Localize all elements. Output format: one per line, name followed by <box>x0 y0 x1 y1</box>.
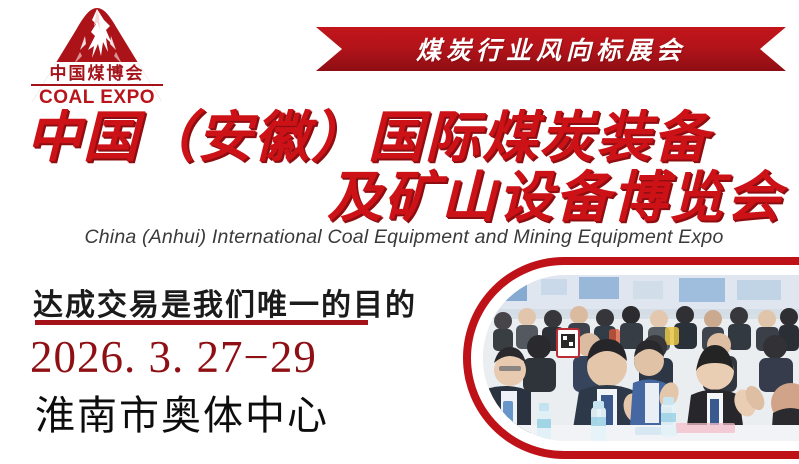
event-venue: 淮南市奥体中心 <box>35 383 329 441</box>
event-date: 2026. 3. 27−29 <box>30 331 317 383</box>
conference-audience-photo <box>483 275 799 441</box>
english-subtitle: China (Anhui) International Coal Equipme… <box>28 226 780 249</box>
page-title-line-2: 及矿山设备博览会 <box>327 168 783 226</box>
slogan-underline <box>35 320 368 325</box>
slogan-text: 达成交易是我们唯一的目的 <box>33 280 417 324</box>
event-logo: 中国煤博会 COAL EXPO <box>22 6 172 110</box>
logo-chinese-name: 中国煤博会 <box>30 64 164 84</box>
poster-canvas: 中国煤博会 COAL EXPO 煤炭行业风向标展会 中国（安徽）国际煤炭装备 及… <box>0 0 799 464</box>
ribbon-text: 煤炭行业风向标展会 <box>316 27 786 71</box>
photo-block <box>455 252 799 464</box>
tagline-ribbon: 煤炭行业风向标展会 <box>316 27 786 71</box>
page-title-line-1: 中国（安徽）国际煤炭装备 <box>26 108 710 166</box>
photo-scene <box>483 275 799 441</box>
